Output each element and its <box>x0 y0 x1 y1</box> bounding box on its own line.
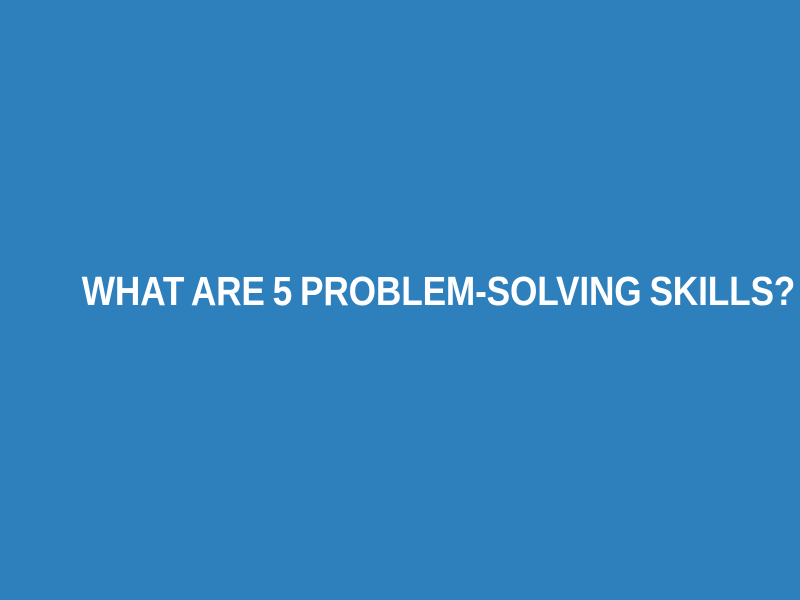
headline-container: WHAT ARE 5 PROBLEM-SOLVING SKILLS? <box>0 269 800 314</box>
banner-background: WHAT ARE 5 PROBLEM-SOLVING SKILLS? <box>0 0 800 600</box>
page-title: WHAT ARE 5 PROBLEM-SOLVING SKILLS? <box>82 269 718 314</box>
